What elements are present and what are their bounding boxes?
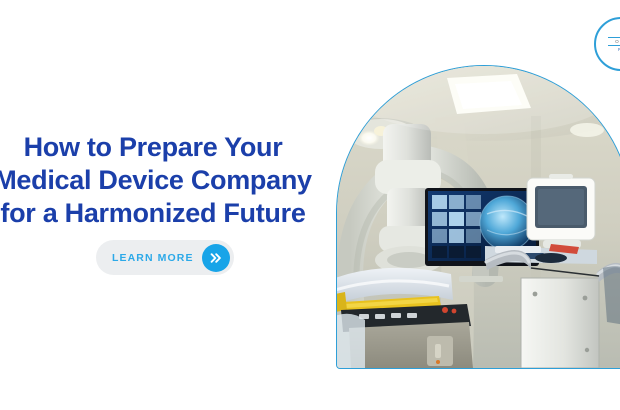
page-title: How to Prepare Your Medical Device Compa… [0, 131, 318, 230]
text-column: How to Prepare Your Medical Device Compa… [0, 0, 330, 410]
logo-text-primary: O M [615, 39, 620, 44]
brand-logo-inner: O M Re [596, 19, 620, 69]
operating-room-illustration [336, 65, 620, 368]
brand-logo[interactable]: O M Re [594, 17, 620, 71]
promo-banner: How to Prepare Your Medical Device Compa… [0, 0, 620, 410]
learn-more-label: LEARN MORE [112, 252, 194, 264]
double-chevron-right-icon [202, 244, 230, 272]
logo-divider-middle [608, 45, 620, 46]
headline-line-2: Medical Device Company [0, 164, 318, 197]
learn-more-button[interactable]: LEARN MORE [96, 240, 234, 275]
headline-line-3: for a Harmonized Future [0, 197, 318, 230]
logo-divider-top [608, 37, 620, 38]
headline-line-1: How to Prepare Your [0, 131, 318, 164]
hero-photo [336, 65, 620, 369]
